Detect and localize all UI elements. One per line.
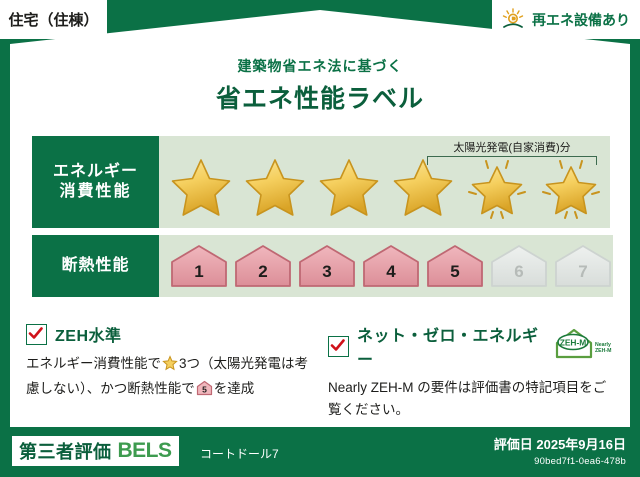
energy-performance-row: エネルギー 消費性能 太陽光発電(自家消費)分 xyxy=(32,136,610,228)
energy-performance-label: エネルギー 消費性能 xyxy=(32,136,159,228)
category-tag-label: 住宅（住棟） xyxy=(8,9,98,30)
svg-text:ZEH-M: ZEH-M xyxy=(560,337,587,347)
title-main: 省エネ性能ラベル xyxy=(0,79,640,115)
insulation-level-badge: 3 xyxy=(297,243,357,289)
star-icon xyxy=(313,148,385,222)
zeh-title: ZEH水準 xyxy=(55,322,122,346)
insulation-performance-row: 断熱性能 1 xyxy=(32,235,610,297)
bels-logo-text: BELS xyxy=(118,439,172,463)
insulation-performance-label: 断熱性能 xyxy=(32,235,159,297)
star-icon xyxy=(165,148,237,222)
energy-label-line2: 消費性能 xyxy=(59,182,131,202)
nze-section: ネット・ゼロ・エネルギー ZEH-M Nearly ZEH-M Nearly Z… xyxy=(328,322,616,421)
sun-icon xyxy=(500,7,526,33)
star-icon xyxy=(239,148,311,222)
star-icon-solar xyxy=(535,148,607,222)
star-icon xyxy=(387,148,459,222)
building-name: コートドール7 xyxy=(200,445,279,462)
category-tag: 住宅（住棟） xyxy=(0,0,107,39)
insulation-level-badge: 1 xyxy=(169,243,229,289)
evaluation-date-value: 2025年9月16日 xyxy=(536,437,626,452)
zeh-heading: ZEH水準 xyxy=(26,322,314,346)
insulation-level-badge: 6 xyxy=(489,243,549,289)
nze-description: Nearly ZEH-M の要件は評価書の特記項目をご覧ください。 xyxy=(328,377,616,421)
evaluation-date-label: 評価日 xyxy=(494,437,533,452)
checkbox-checked-icon xyxy=(26,324,47,345)
evaluation-info: 評価日 2025年9月16日 90bed7f1-0ea6-478b xyxy=(494,434,626,467)
checkbox-checked-icon xyxy=(328,336,349,357)
house-icon-inline: 5 xyxy=(196,384,213,399)
star-icon-solar xyxy=(461,148,533,222)
insulation-level-badge: 4 xyxy=(361,243,421,289)
insulation-level-number: 3 xyxy=(322,263,331,289)
insulation-level-number: 2 xyxy=(258,263,267,289)
insulation-level-badge: 7 xyxy=(553,243,613,289)
renewable-badge-label: 再エネ設備あり xyxy=(532,10,630,30)
rating-rows: エネルギー 消費性能 太陽光発電(自家消費)分 xyxy=(32,136,610,304)
insulation-level-badge: 2 xyxy=(233,243,293,289)
insulation-level-scale: 1 2 3 xyxy=(159,243,613,289)
insulation-level-number: 1 xyxy=(194,263,203,289)
evaluation-id: 90bed7f1-0ea6-478b xyxy=(494,456,626,467)
zeh-desc-part3: を達成 xyxy=(214,381,255,396)
zeh-desc-part1: エネルギー消費性能で xyxy=(26,356,161,371)
star-rating xyxy=(159,148,607,222)
energy-label-line1: エネルギー xyxy=(53,162,138,182)
renewable-equipment-badge: 再エネ設備あり xyxy=(492,0,640,39)
insulation-level-number: 6 xyxy=(514,263,523,289)
bels-certification-badge: 第三者評価 BELS xyxy=(12,436,179,466)
nze-title: ネット・ゼロ・エネルギー xyxy=(357,322,542,370)
insulation-level-badge: 5 xyxy=(425,243,485,289)
zeh-description: エネルギー消費性能で3つ（太陽光発電は考慮しない）、かつ断熱性能で5を達成 xyxy=(26,353,314,403)
insulation-label-text: 断熱性能 xyxy=(61,256,129,276)
label-title: 建築物省エネ法に基づく 省エネ性能ラベル xyxy=(0,56,640,115)
title-subtitle: 建築物省エネ法に基づく xyxy=(0,56,640,76)
insulation-level-number: 7 xyxy=(578,263,587,289)
nze-heading: ネット・ゼロ・エネルギー ZEH-M Nearly ZEH-M xyxy=(328,322,616,370)
energy-label-root: 住宅（住棟） 再エネ設備あり 建築物省エネ法に基づく 省エネ性能ラベル xyxy=(0,0,640,477)
energy-performance-body: 太陽光発電(自家消費)分 xyxy=(159,136,610,228)
svg-text:5: 5 xyxy=(202,384,207,394)
zeh-section: ZEH水準 エネルギー消費性能で3つ（太陽光発電は考慮しない）、かつ断熱性能で5… xyxy=(26,322,314,421)
zeh-m-logo-icon: ZEH-M Nearly ZEH-M xyxy=(554,327,616,366)
svg-text:ZEH-M: ZEH-M xyxy=(595,348,611,354)
bels-japanese-label: 第三者評価 xyxy=(19,438,112,464)
footer-bar: 第三者評価 BELS コートドール7 評価日 2025年9月16日 90bed7… xyxy=(0,427,640,477)
insulation-level-number: 4 xyxy=(386,263,395,289)
insulation-level-number: 5 xyxy=(450,263,459,289)
evaluation-date: 評価日 2025年9月16日 xyxy=(494,434,626,453)
star-icon-inline xyxy=(162,359,178,374)
info-sections: ZEH水準 エネルギー消費性能で3つ（太陽光発電は考慮しない）、かつ断熱性能で5… xyxy=(26,322,616,421)
insulation-performance-body: 1 2 3 xyxy=(159,235,613,297)
